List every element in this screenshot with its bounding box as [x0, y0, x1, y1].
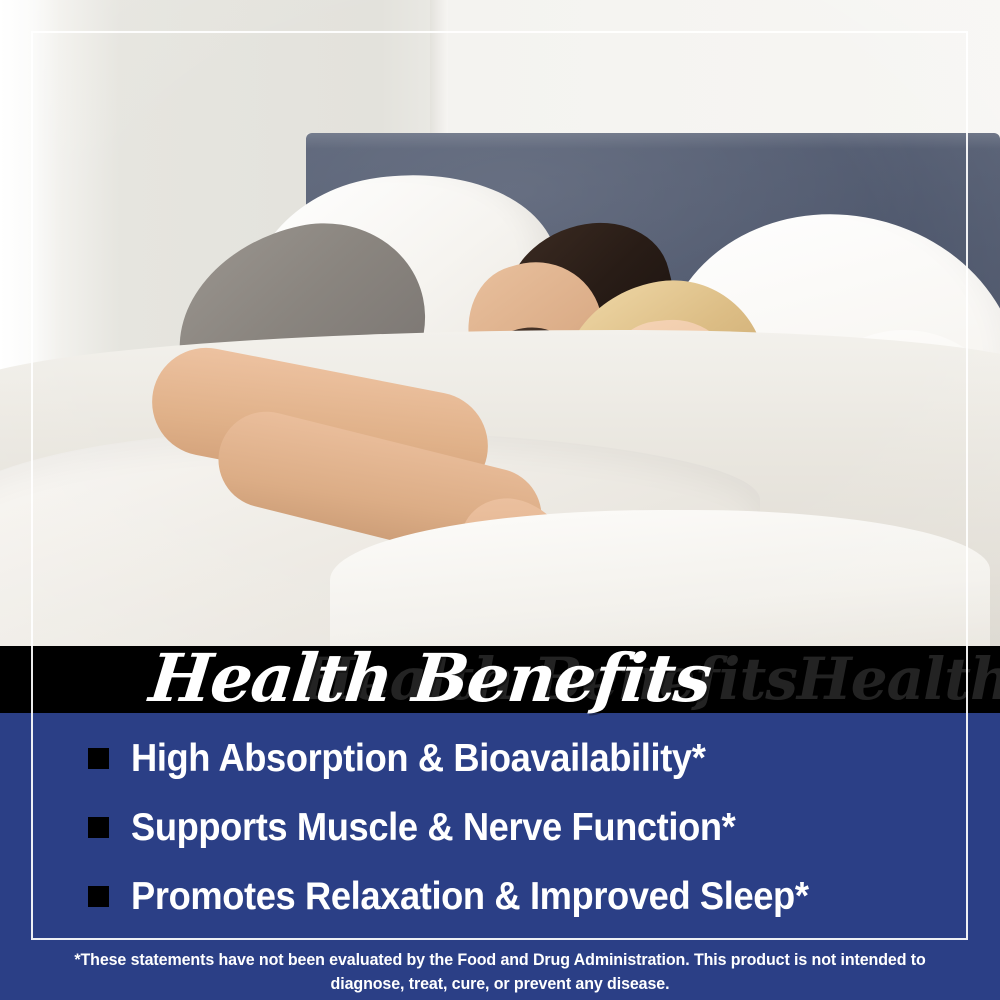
benefit-label: Promotes Relaxation & Improved Sleep*	[131, 875, 809, 919]
page-title: Health Benefits	[146, 636, 715, 720]
photo-vignette	[0, 0, 1000, 646]
hero-photo-sleeping-couple: 12 1 2 3 4 5 6 7 8 9	[0, 0, 1000, 646]
list-item: Promotes Relaxation & Improved Sleep*	[88, 862, 968, 931]
list-item: Supports Muscle & Nerve Function*	[88, 793, 968, 862]
benefits-list: High Absorption & Bioavailability* Suppo…	[88, 724, 968, 931]
benefit-label: Supports Muscle & Nerve Function*	[131, 806, 735, 850]
product-benefits-graphic: 12 1 2 3 4 5 6 7 8 9 Health BenefitsHeal…	[0, 0, 1000, 1000]
square-bullet-icon	[88, 817, 109, 838]
fda-disclaimer: *These statements have not been evaluate…	[73, 948, 927, 996]
square-bullet-icon	[88, 748, 109, 769]
benefit-label: High Absorption & Bioavailability*	[131, 737, 705, 781]
list-item: High Absorption & Bioavailability*	[88, 724, 968, 793]
square-bullet-icon	[88, 886, 109, 907]
